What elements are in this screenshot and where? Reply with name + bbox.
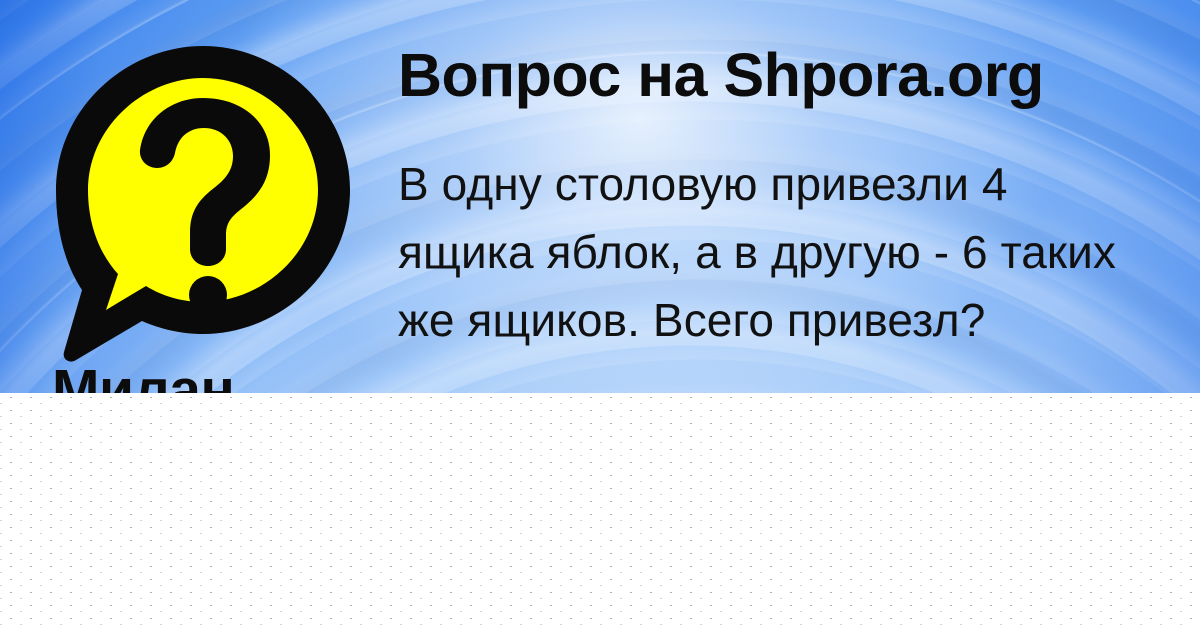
- page-title: Вопрос на Shpora.org: [398, 44, 1098, 106]
- question-speech-bubble-icon: [48, 38, 358, 368]
- question-banner-card: Вопрос на Shpora.org В одну столовую при…: [0, 0, 1200, 393]
- question-mark-dot: [189, 276, 227, 314]
- author-name: Милан: [52, 362, 234, 393]
- question-text: В одну столовую привезли 4 ящика яблок, …: [398, 150, 1140, 354]
- screenshot-root: Вопрос на Shpora.org В одну столовую при…: [0, 0, 1200, 630]
